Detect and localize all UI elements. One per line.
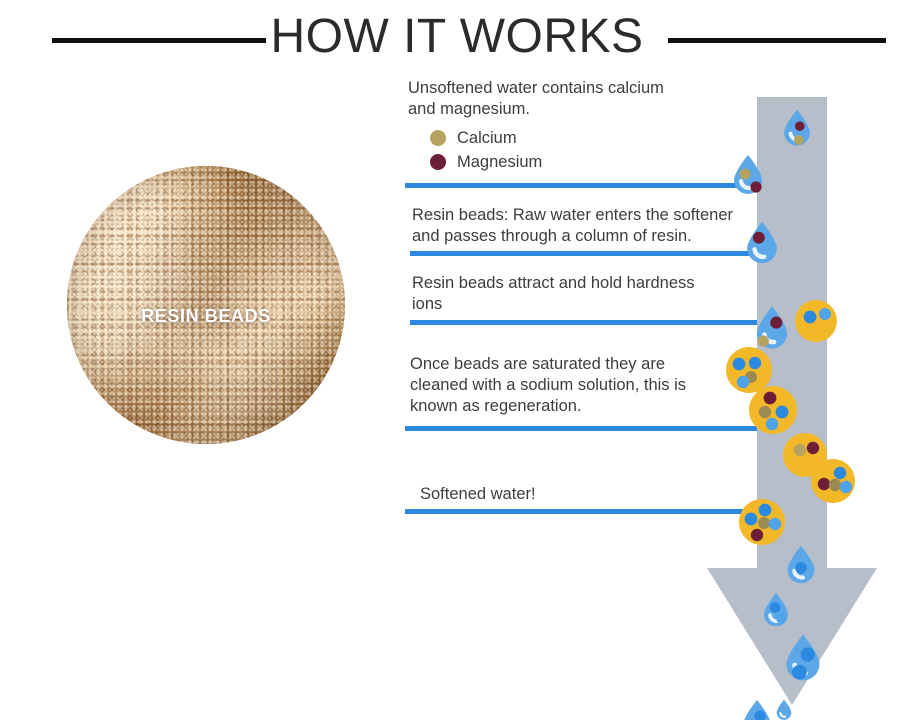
step-regeneration-line-3: known as regeneration. [410, 396, 740, 417]
resin-beads-image: RESIN BEADS [67, 166, 345, 444]
step-attract-hardness-line-2: ions [412, 294, 742, 315]
step-attract-hardness: Resin beads attract and hold hardness io… [412, 273, 742, 315]
droplet-softened-5 [777, 700, 792, 720]
step-regeneration-line-1: Once beads are saturated they are [410, 354, 740, 375]
resin-beads-label: RESIN BEADS [67, 306, 345, 327]
resin-bead-3 [749, 386, 797, 434]
resin-bead-2 [726, 347, 772, 393]
legend-label-magnesium: Magnesium [457, 152, 542, 173]
legend-item-calcium: Calcium [430, 126, 738, 150]
resin-bead-1 [795, 300, 837, 342]
resin-bead-6 [739, 499, 785, 545]
step-regeneration-line-2: cleaned with a sodium solution, this is [410, 375, 740, 396]
step-unsoftened-water-line-1: Unsoftened water contains calcium [408, 78, 738, 99]
calcium-dot-icon [430, 130, 446, 146]
water-flow-column [700, 90, 900, 720]
legend-label-calcium: Calcium [457, 128, 517, 149]
droplet-softened-4 [743, 700, 771, 720]
column-arrow-head [707, 568, 877, 705]
legend-item-magnesium: Magnesium [430, 150, 738, 174]
step-unsoftened-water-line-2: and magnesium. [408, 99, 738, 120]
step-regeneration: Once beads are saturated they are cleane… [410, 354, 740, 417]
page-title-row: HOW IT WORKS [0, 6, 914, 68]
resin-beads-vignette [67, 166, 345, 444]
infographic-stage: HOW IT WORKS RESIN BEADS Unsoftened wate… [0, 0, 914, 727]
legend: Calcium Magnesium [430, 126, 738, 174]
resin-bead-5 [811, 459, 855, 503]
page-title: HOW IT WORKS [0, 6, 914, 68]
magnesium-dot-icon [430, 154, 446, 170]
step-unsoftened-water: Unsoftened water contains calcium and ma… [408, 78, 738, 174]
step-attract-hardness-line-1: Resin beads attract and hold hardness [412, 273, 742, 294]
